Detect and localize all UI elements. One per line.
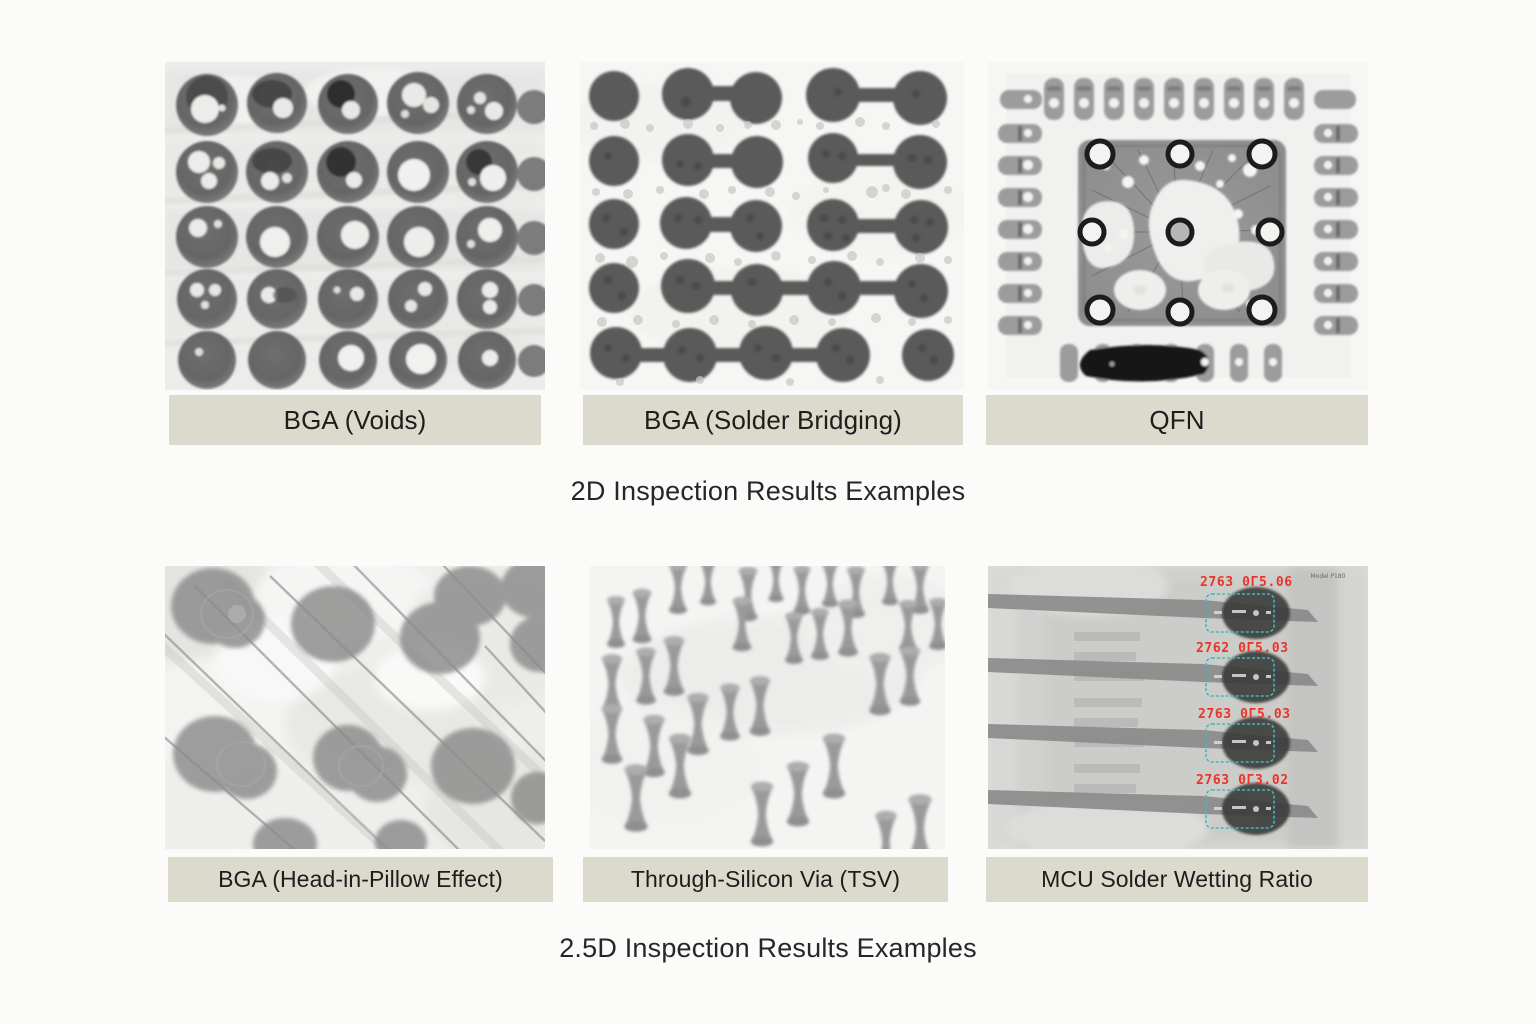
- caption-text: BGA (Solder Bridging): [644, 405, 902, 436]
- panel-caption-head-in-pillow: BGA (Head-in-Pillow Effect): [168, 857, 553, 902]
- xray-image-bga-bridging: [580, 62, 964, 390]
- caption-text: QFN: [1149, 405, 1204, 436]
- qfn-svg: [988, 62, 1368, 390]
- mcu-corner-label: Model P180: [1311, 573, 1346, 580]
- xray-image-qfn: [988, 62, 1368, 390]
- slide-canvas: BGA (Voids): [0, 0, 1536, 1024]
- section-title-2d: 2D Inspection Results Examples: [0, 476, 1536, 507]
- tsv-svg: [590, 566, 945, 849]
- mcu-wetting-svg: 2763 0Г5.06 2762 0Г5.03 2763 0Г5.03 2763…: [988, 566, 1368, 849]
- bga-voids-svg: [165, 62, 545, 390]
- xray-image-mcu-wetting: 2763 0Г5.06 2762 0Г5.03 2763 0Г5.03 2763…: [988, 566, 1368, 849]
- mcu-annotation-1: 2763 0Г5.06: [1200, 575, 1293, 590]
- panel-caption-tsv: Through-Silicon Via (TSV): [583, 857, 948, 902]
- panel-caption-bga-voids: BGA (Voids): [169, 395, 541, 445]
- panel-caption-qfn: QFN: [986, 395, 1368, 445]
- caption-text: BGA (Head-in-Pillow Effect): [218, 866, 503, 893]
- bga-bridging-svg: [580, 62, 964, 390]
- mcu-annotation-4: 2763 0Г3.02: [1196, 773, 1289, 788]
- xray-image-tsv: [590, 566, 945, 849]
- caption-text: MCU Solder Wetting Ratio: [1041, 866, 1313, 893]
- mcu-annotation-3: 2763 0Г5.03: [1198, 707, 1291, 722]
- caption-text: BGA (Voids): [284, 405, 427, 436]
- xray-image-head-in-pillow: [165, 566, 545, 849]
- panel-caption-mcu-wetting: MCU Solder Wetting Ratio: [986, 857, 1368, 902]
- xray-image-bga-voids: [165, 62, 545, 390]
- section-title-25d: 2.5D Inspection Results Examples: [0, 933, 1536, 964]
- caption-text: Through-Silicon Via (TSV): [631, 866, 900, 893]
- mcu-annotation-2: 2762 0Г5.03: [1196, 641, 1289, 656]
- panel-caption-bga-bridging: BGA (Solder Bridging): [583, 395, 963, 445]
- head-in-pillow-svg: [165, 566, 545, 849]
